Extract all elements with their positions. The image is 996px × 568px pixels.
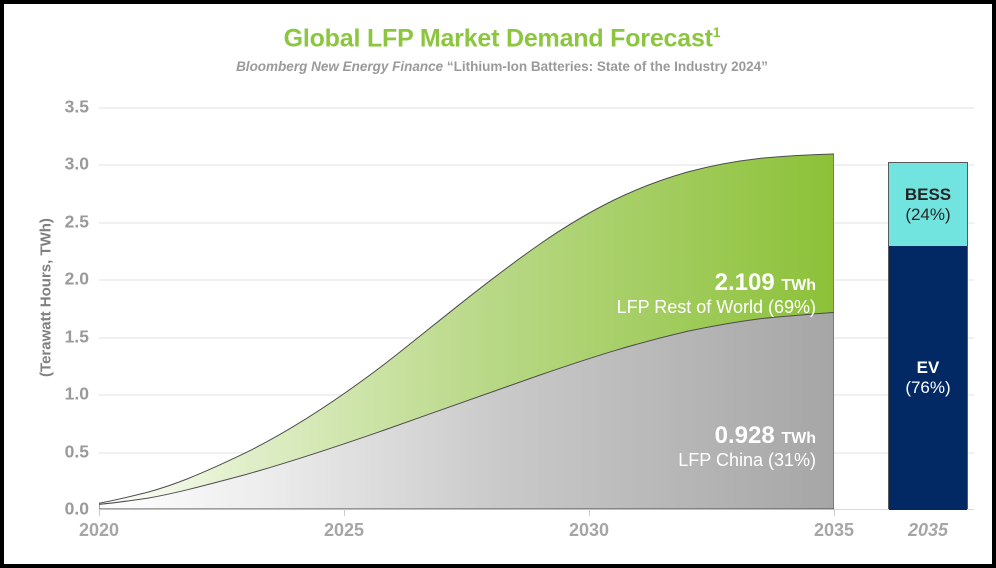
label-china-number: 0.928: [715, 422, 775, 449]
chart-title-footnote-marker: 1: [713, 24, 721, 40]
y-axis-ticks: 0.0 0.5 1.0 1.5 2.0 2.5 3.0 3.5: [24, 107, 89, 509]
x-tick-2020: 2020: [39, 520, 159, 541]
sidebar-stacked-bar: BESS (24%) EV (76%): [888, 162, 968, 509]
bar-segment-bess: BESS (24%): [889, 163, 967, 246]
chart-subtitle: Bloomberg New Energy Finance “Lithium-Io…: [4, 59, 996, 74]
y-tick-4: 2.0: [29, 269, 89, 290]
y-tick-5: 2.5: [29, 211, 89, 232]
x-tickmark-2030: [589, 509, 590, 516]
label-china: 0.928 TWh LFP China (31%): [678, 422, 816, 470]
label-rest-of-world-value: 2.109 TWh: [617, 269, 816, 297]
y-tick-6: 3.0: [29, 154, 89, 175]
bar-segment-ev: EV (76%): [889, 246, 967, 510]
label-rest-of-world-number: 2.109: [715, 269, 775, 296]
y-tick-7: 3.5: [29, 97, 89, 118]
x-tick-2030: 2030: [529, 520, 649, 541]
label-china-value: 0.928 TWh: [678, 422, 816, 450]
label-china-unit: TWh: [781, 430, 816, 447]
x-tick-sidebar-2035: 2035: [868, 520, 988, 541]
bar-segment-bess-name: BESS: [905, 185, 951, 205]
bar-segment-ev-name: EV: [917, 358, 940, 378]
label-rest-of-world: 2.109 TWh LFP Rest of World (69%): [617, 269, 816, 317]
chart-title: Global LFP Market Demand Forecast1: [4, 24, 996, 53]
chart-canvas: Global LFP Market Demand Forecast1 Bloom…: [0, 0, 996, 568]
label-rest-of-world-unit: TWh: [781, 277, 816, 294]
y-tick-0: 0.0: [29, 499, 89, 520]
y-tick-3: 1.5: [29, 326, 89, 347]
y-tick-2: 1.0: [29, 384, 89, 405]
x-tick-2025: 2025: [284, 520, 404, 541]
x-tickmark-2035: [834, 509, 835, 516]
x-tickmark-2025: [344, 509, 345, 516]
subtitle-source: Bloomberg New Energy Finance: [236, 59, 443, 74]
x-tickmark-2020: [99, 509, 100, 516]
bar-segment-bess-pct: (24%): [905, 205, 950, 225]
label-china-name: LFP China (31%): [678, 450, 816, 471]
y-tick-1: 0.5: [29, 441, 89, 462]
bar-segment-ev-pct: (76%): [905, 378, 950, 398]
label-rest-of-world-name: LFP Rest of World (69%): [617, 297, 816, 318]
chart-title-text: Global LFP Market Demand Forecast: [284, 24, 713, 52]
subtitle-report: “Lithium-Ion Batteries: State of the Ind…: [447, 59, 768, 74]
x-axis-line: [99, 509, 834, 510]
